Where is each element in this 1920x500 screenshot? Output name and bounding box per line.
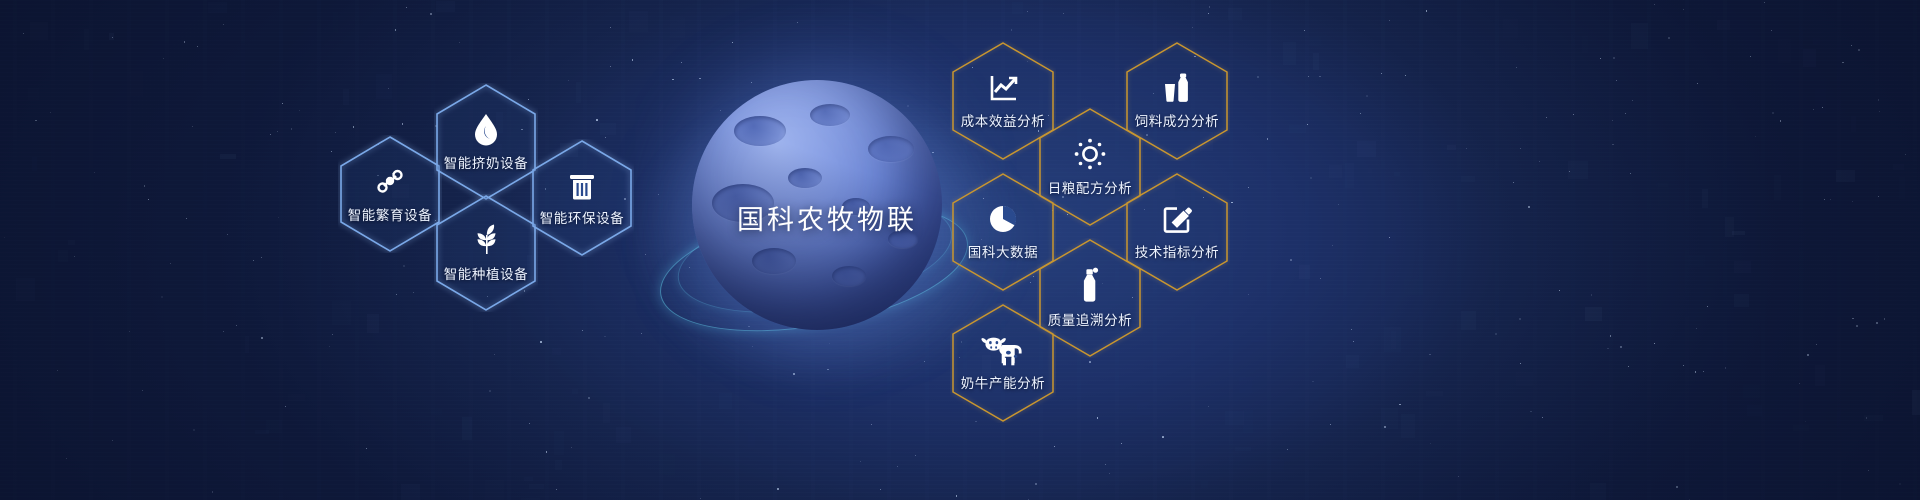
hex-cell-milking[interactable]: 智能挤奶设备 <box>434 83 538 201</box>
plant-leaf-icon <box>470 223 502 257</box>
page-title: 国科农牧物联 <box>702 198 952 237</box>
hex-cell-cow-capacity[interactable]: 奶牛产能分析 <box>950 303 1056 423</box>
scene-canvas: 国科农牧物联 智能繁育设备 <box>0 0 1920 500</box>
hex-label: 国科大数据 <box>968 241 1039 261</box>
hex-cell-planting[interactable]: 智能种植设备 <box>434 194 538 312</box>
hex-label: 智能繁育设备 <box>348 204 433 224</box>
trash-bin-icon <box>567 169 597 201</box>
hex-cell-environment[interactable]: 智能环保设备 <box>530 139 634 257</box>
hex-label: 技术指标分析 <box>1135 241 1220 261</box>
hex-label: 智能挤奶设备 <box>444 152 529 172</box>
edit-pencil-icon <box>1161 203 1193 235</box>
droplet-icon <box>470 112 502 146</box>
hex-label: 日粮配方分析 <box>1048 177 1133 197</box>
hex-label: 质量追溯分析 <box>1048 309 1133 329</box>
sun-icon <box>1073 137 1107 171</box>
hex-label: 成本效益分析 <box>961 110 1046 130</box>
pie-chart-icon <box>987 203 1019 235</box>
hex-label: 智能环保设备 <box>540 207 625 227</box>
bottle-glass-icon <box>1160 72 1194 104</box>
hex-label: 饲料成分分析 <box>1135 110 1220 130</box>
hex-cell-breeding[interactable]: 智能繁育设备 <box>338 135 442 253</box>
node-graph-icon <box>373 164 407 198</box>
hex-label: 奶牛产能分析 <box>961 372 1046 392</box>
hex-label: 智能种植设备 <box>444 263 529 283</box>
line-chart-icon <box>987 72 1019 104</box>
cow-icon <box>981 334 1025 366</box>
milk-bottle-icon <box>1076 267 1104 303</box>
